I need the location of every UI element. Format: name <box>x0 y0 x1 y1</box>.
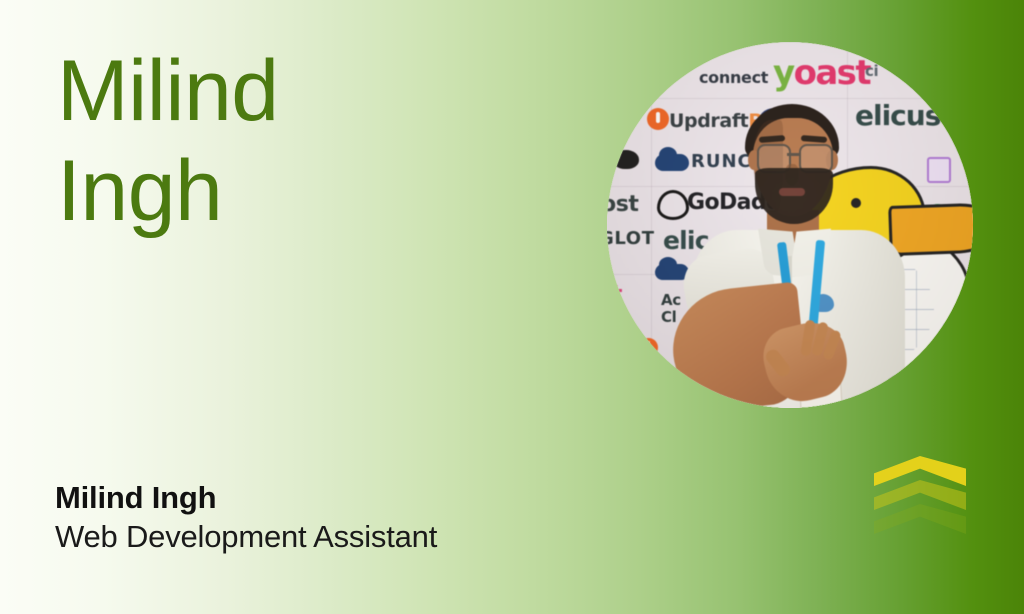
stacked-chevron-logo-icon <box>874 456 966 542</box>
speaker-info: Milind Ingh Web Development Assistant <box>55 480 675 556</box>
avatar-image: connect yoast UpdraftPlus RUNCLOUD GoDad… <box>607 42 973 408</box>
speaker-role: Web Development Assistant <box>55 518 675 556</box>
page-title: Milind Ingh <box>57 42 577 242</box>
speaker-card: Milind Ingh connect yoast UpdraftPlus RU… <box>0 0 1024 614</box>
person-figure <box>607 42 973 408</box>
speaker-name: Milind Ingh <box>55 480 675 517</box>
chevron-bottom <box>874 504 966 534</box>
avatar: connect yoast UpdraftPlus RUNCLOUD GoDad… <box>607 42 973 408</box>
